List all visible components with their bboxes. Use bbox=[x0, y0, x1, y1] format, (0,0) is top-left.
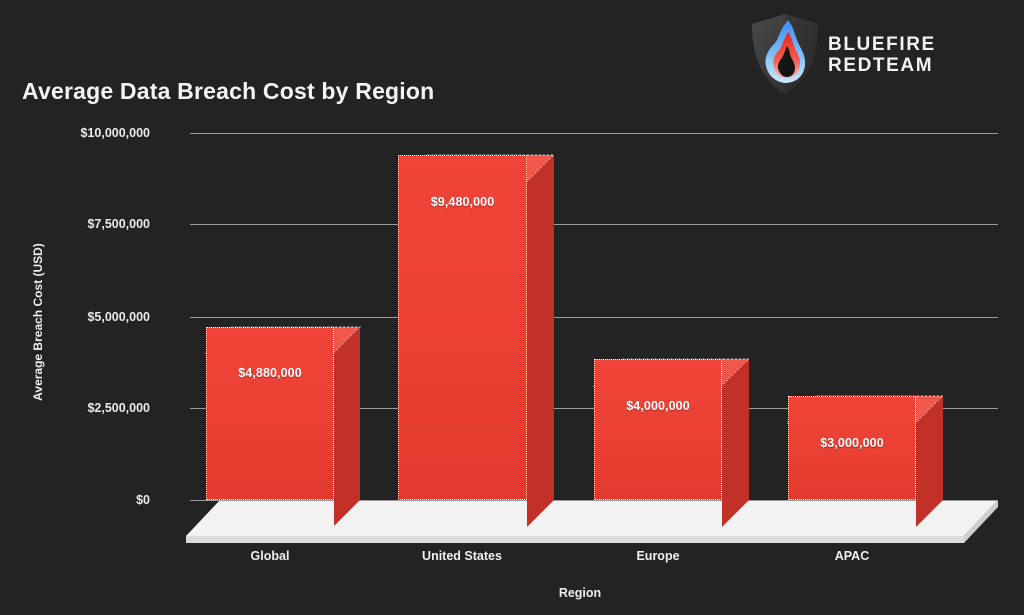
x-tick-label-europe: Europe bbox=[584, 549, 732, 563]
x-tick-label-united-states: United States bbox=[388, 549, 536, 563]
y-axis-title: Average Breach Cost (USD) bbox=[31, 222, 45, 422]
bar-value-label: $9,480,000 bbox=[398, 195, 527, 209]
bar-apac[interactable]: $3,000,000 bbox=[788, 396, 916, 500]
bar-europe[interactable]: $4,000,000 bbox=[594, 359, 722, 500]
bar-united-states[interactable]: $9,480,000 bbox=[398, 155, 527, 500]
y-tick-label: $7,500,000 bbox=[0, 217, 150, 231]
gridline-5m bbox=[190, 317, 998, 318]
bar-value-label: $4,000,000 bbox=[594, 399, 722, 413]
gridline-7-5m bbox=[190, 224, 998, 225]
bar-global[interactable]: $4,880,000 bbox=[206, 327, 334, 500]
chart-screenshot: BLUEFIRE REDTEAM Average Data Breach Cos… bbox=[0, 0, 1024, 615]
y-tick-label: $5,000,000 bbox=[0, 310, 150, 324]
y-tick-label: $2,500,000 bbox=[0, 401, 150, 415]
x-tick-label-global: Global bbox=[196, 549, 344, 563]
plot-area: $10,000,000 $7,500,000 $5,000,000 $2,500… bbox=[0, 0, 1024, 615]
y-tick-label: $0 bbox=[0, 493, 150, 507]
bar-value-label: $4,880,000 bbox=[206, 366, 334, 380]
bar-front-face bbox=[206, 327, 334, 500]
x-tick-label-apac: APAC bbox=[778, 549, 926, 563]
gridline-10m bbox=[190, 133, 998, 134]
bar-front-face bbox=[594, 359, 722, 500]
x-axis-title: Region bbox=[0, 586, 1024, 600]
y-tick-label: $10,000,000 bbox=[0, 126, 150, 140]
bar-value-label: $3,000,000 bbox=[788, 436, 916, 450]
